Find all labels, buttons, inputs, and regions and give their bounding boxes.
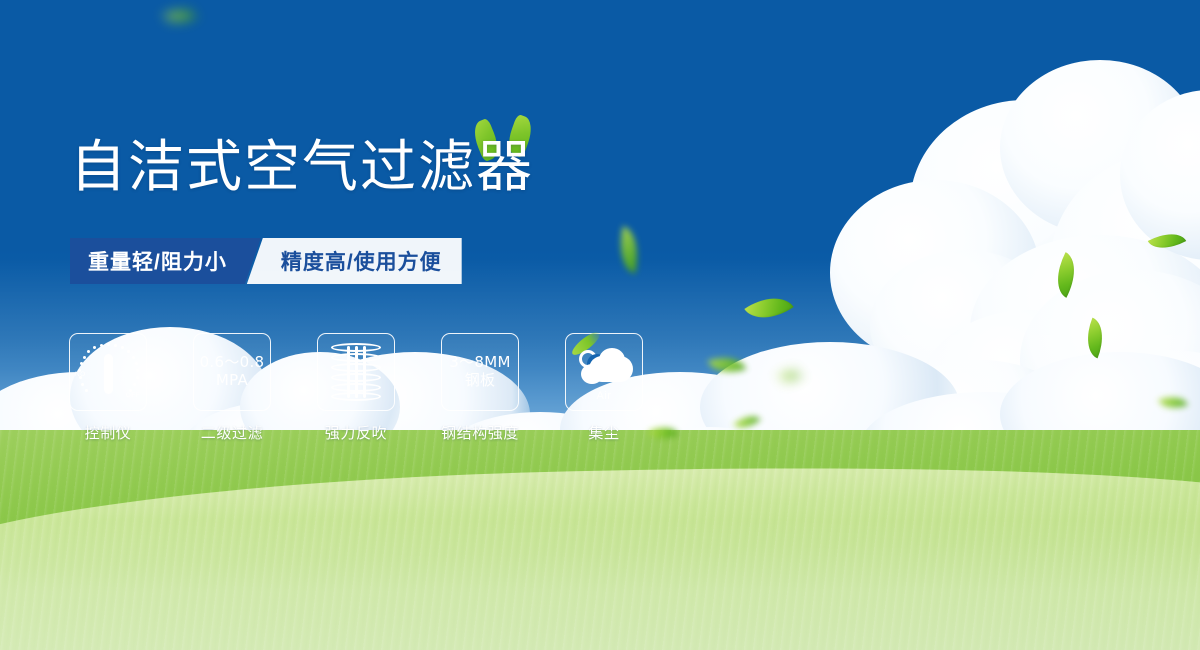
pressure-value: 0.6～0.8 <box>200 354 265 372</box>
feature-item-steel[interactable]: 3～8MM 钢板 钢结构强度 <box>442 333 518 443</box>
pressure-unit: MPA <box>200 372 265 390</box>
feature-label: 控制仪 <box>85 422 132 443</box>
steel-value: 3～8MM <box>449 354 510 372</box>
page-title: 自洁式空气过滤器 <box>70 140 534 196</box>
floating-leaf <box>163 3 197 30</box>
subtitle-right: 精度高/使用方便 <box>247 238 462 284</box>
subtitle-bar: 重量轻/阻力小 精度高/使用方便 <box>70 238 462 284</box>
feature-label: 集尘 <box>588 422 619 443</box>
feature-item-blowback[interactable]: 强力反吹 <box>318 333 394 443</box>
feature-icon-box <box>317 333 395 411</box>
gauge-icon: NO OFF <box>76 341 140 403</box>
floating-leaf <box>1158 391 1188 414</box>
grass-light-sheen <box>0 520 1200 650</box>
product-banner: 自洁式空气过滤器 重量轻/阻力小 精度高/使用方便 <box>0 0 1200 650</box>
feature-label: 钢结构强度 <box>441 422 519 443</box>
floating-leaf <box>1148 225 1186 257</box>
gauge-label-on: NO <box>75 371 86 378</box>
grass-field <box>0 430 1200 650</box>
coil-filter-icon <box>331 343 381 401</box>
wisp-cloud <box>880 300 1060 360</box>
feature-item-dust[interactable]: Air 集尘 <box>566 333 642 443</box>
floating-leaf <box>1047 252 1085 298</box>
feature-icon-box: Air <box>565 333 643 411</box>
feature-icon-box: 3～8MM 钢板 <box>441 333 519 411</box>
gauge-label-off: OFF <box>126 392 140 399</box>
feature-label: 二级过滤 <box>201 422 263 443</box>
floating-leaf <box>1079 318 1111 359</box>
floating-leaf <box>778 366 801 386</box>
feature-list: NO OFF 控制仪 0.6～0.8 MPA 二级过滤 <box>70 333 642 443</box>
floating-leaf <box>708 350 747 380</box>
air-caption: Air <box>573 390 635 402</box>
feature-item-pressure[interactable]: 0.6～0.8 MPA 二级过滤 <box>194 333 270 443</box>
feature-icon-box: NO OFF <box>69 333 147 411</box>
feature-icon-box: 0.6～0.8 MPA <box>193 333 271 411</box>
cumulus-cloud-large <box>820 60 1200 390</box>
feature-item-control[interactable]: NO OFF 控制仪 <box>70 333 146 443</box>
steel-unit: 钢板 <box>449 372 510 390</box>
cloud-air-icon: Air <box>573 344 635 400</box>
feature-label: 强力反吹 <box>325 422 387 443</box>
pressure-icon: 0.6～0.8 MPA <box>200 354 265 389</box>
wisp-cloud <box>1020 360 1200 430</box>
floating-leaf <box>614 226 645 274</box>
subtitle-left: 重量轻/阻力小 <box>70 238 261 284</box>
floating-leaf <box>744 285 793 330</box>
steel-plate-icon: 3～8MM 钢板 <box>449 354 510 389</box>
